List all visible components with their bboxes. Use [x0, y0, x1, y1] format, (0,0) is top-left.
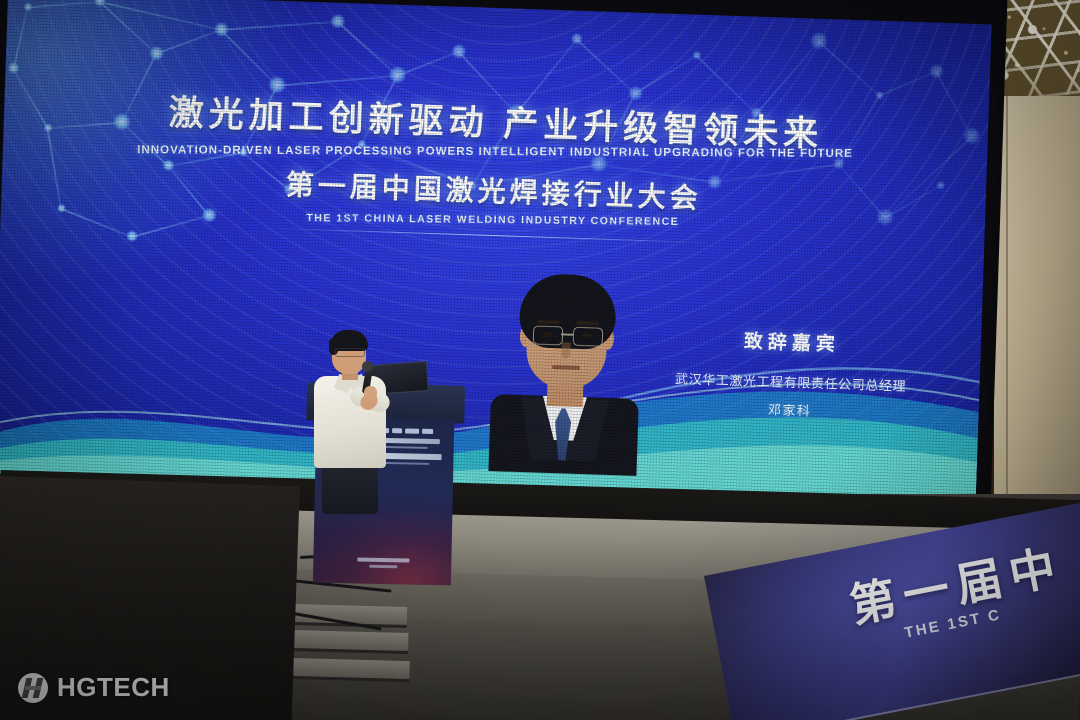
podium-footer-row	[357, 557, 409, 562]
led-screen-frame: 激光加工创新驱动 产业升级智领未来 INNOVATION-DRIVEN LASE…	[0, 0, 1000, 520]
presenter-with-microphone	[306, 330, 398, 490]
hgtech-brand-text: HGTECH	[57, 672, 170, 703]
hgtech-watermark: HGTECH	[18, 672, 170, 703]
led-screen: 激光加工创新驱动 产业升级智领未来 INNOVATION-DRIVEN LASE…	[0, 0, 992, 506]
sponsor-logo	[422, 429, 433, 434]
led-pixel-texture	[0, 0, 992, 506]
microphone-head	[362, 361, 373, 372]
podium-footer-row	[369, 565, 397, 569]
presenter-hand	[364, 386, 377, 400]
hgtech-circle-logo-icon	[18, 673, 48, 703]
podium-footer-logo	[357, 557, 409, 568]
conference-stage-photo: 激光加工创新驱动 产业升级智领未来 INNOVATION-DRIVEN LASE…	[0, 0, 1080, 720]
hgtech-logo-bar	[25, 686, 41, 691]
sponsor-logo	[405, 428, 419, 433]
presenter-trousers	[322, 462, 378, 514]
presenter-glasses	[335, 348, 365, 357]
